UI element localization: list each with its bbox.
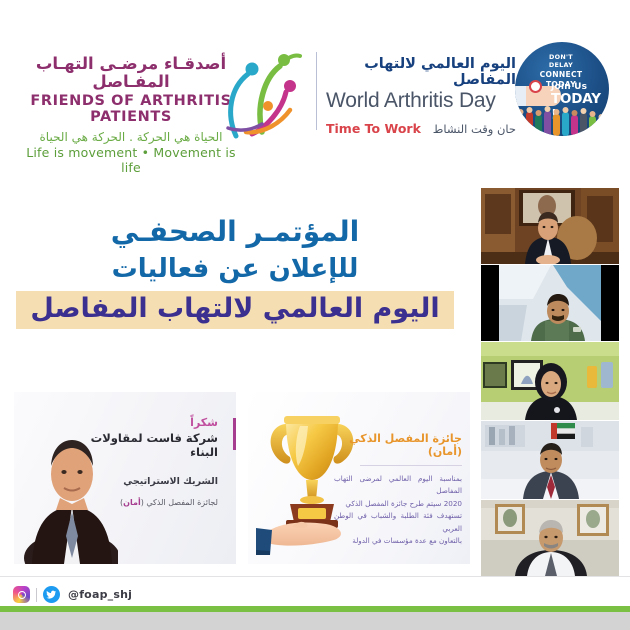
org-logo: أصدقـاء مرضـى التهـاب المفـاصل FRIENDS O… [16,55,246,175]
sponsor-thanks-panel: شكراً شركة فاست لمقاولات البناء الشريك ا… [14,392,236,564]
social-links: @foap_shj [13,586,132,603]
org-logo-arabic-name: أصدقـاء مرضـى التهـاب المفـاصل [16,55,246,91]
press-conference-title: المؤتمـر الصحفـي للإعلان عن فعاليات اليو… [0,215,470,329]
sponsor-award-name: أمان [123,498,141,507]
social-divider [36,588,37,602]
header-divider [316,52,317,130]
participant-tile-2[interactable] [481,265,619,341]
handshake-clock-badge-icon: DON'T DELAY CONNECT TODAY Join Us TODAY … [515,42,609,136]
instagram-lens [18,591,26,599]
award-title: جائزة المفصل الذكي (أمان) [334,432,462,458]
twitter-bird-icon[interactable] [43,586,60,603]
award-body-line3: تستهدف فئة الطلبة والشباب في الوطن العرب… [334,510,462,535]
sponsor-company-name: شركة فاست لمقاولات البناء [78,431,226,459]
sponsor-role-label: الشريك الاستراتيجي [78,476,226,487]
participant-tile-4[interactable] [481,421,619,499]
page-title-line3-highlight: اليوم العالمي لالتهاب المفاصل [16,291,453,329]
page-title-line1: المؤتمـر الصحفـي [0,215,470,248]
org-logo-english-tagline: Life is movement • Movement is life [16,145,246,175]
badge-slogan-line3: CONNECT [525,70,597,80]
three-people-figures-icon [222,40,304,140]
header-logo-band: أصدقـاء مرضـى التهـاب المفـاصل FRIENDS O… [0,0,630,175]
wad-arabic-theme: حان وقت النشاط [433,122,516,136]
participant-tile-3[interactable] [481,342,619,420]
badge-slogan-line1: DON'T [525,53,597,61]
award-announcement-panel: جائزة المفصل الذكي (أمان) بمناسبة اليوم … [248,392,470,564]
participant-tile-5[interactable] [481,500,619,576]
badge-slogan-line2: DELAY [525,61,597,69]
wad-english-title: World Arthritis Day [326,89,516,113]
sponsor-accent-bar [233,418,236,450]
page-title-line3-wrap: اليوم العالمي لالتهاب المفاصل [0,291,470,329]
wad-arabic-title: اليوم العالمي لالتهاب المفاصل [326,56,516,88]
badge-people-ring-icon [515,102,609,136]
world-arthritis-day-logo: اليوم العالمي لالتهاب المفاصل World Arth… [326,56,516,136]
sponsor-award-prefix: لجائزة المفصل الذكي ( [141,498,218,507]
sponsor-thanks-label: شكراً [78,416,226,429]
instagram-icon[interactable] [13,586,30,603]
org-logo-english-name: FRIENDS OF ARTHRITIS PATIENTS [16,93,246,125]
slide-canvas: أصدقـاء مرضـى التهـاب المفـاصل FRIENDS O… [0,0,630,630]
award-body-line4: بالتعاون مع عدة مؤسسات في الدولة [334,535,462,547]
footer-bottom-strip [0,612,630,630]
page-title-line2: للإعلان عن فعاليات [0,254,470,284]
wad-english-theme: Time To Work [326,121,421,136]
sponsor-award-line: لجائزة المفصل الذكي (أمان) [78,498,226,507]
org-logo-arabic-tagline: الحياة هي الحركة . الحركة هي الحياة [16,130,246,144]
badge-clock-icon [529,80,542,93]
participant-tile-1[interactable] [481,188,619,264]
award-text-block: جائزة المفصل الذكي (أمان) بمناسبة اليوم … [334,432,462,547]
footer-separator [0,576,630,577]
award-divider [360,465,462,466]
wad-theme-row: Time To Work حان وقت النشاط [326,121,516,136]
award-body-line2: 2020 سيتم طرح جائزة المفصل الذكي [334,498,462,510]
social-handle[interactable]: @foap_shj [68,588,132,601]
sponsor-text-block: شكراً شركة فاست لمقاولات البناء الشريك ا… [78,416,226,507]
video-conference-grid [481,188,619,576]
award-body-line1: بمناسبة اليوم العالمي لمرضى التهاب المفا… [334,473,462,498]
